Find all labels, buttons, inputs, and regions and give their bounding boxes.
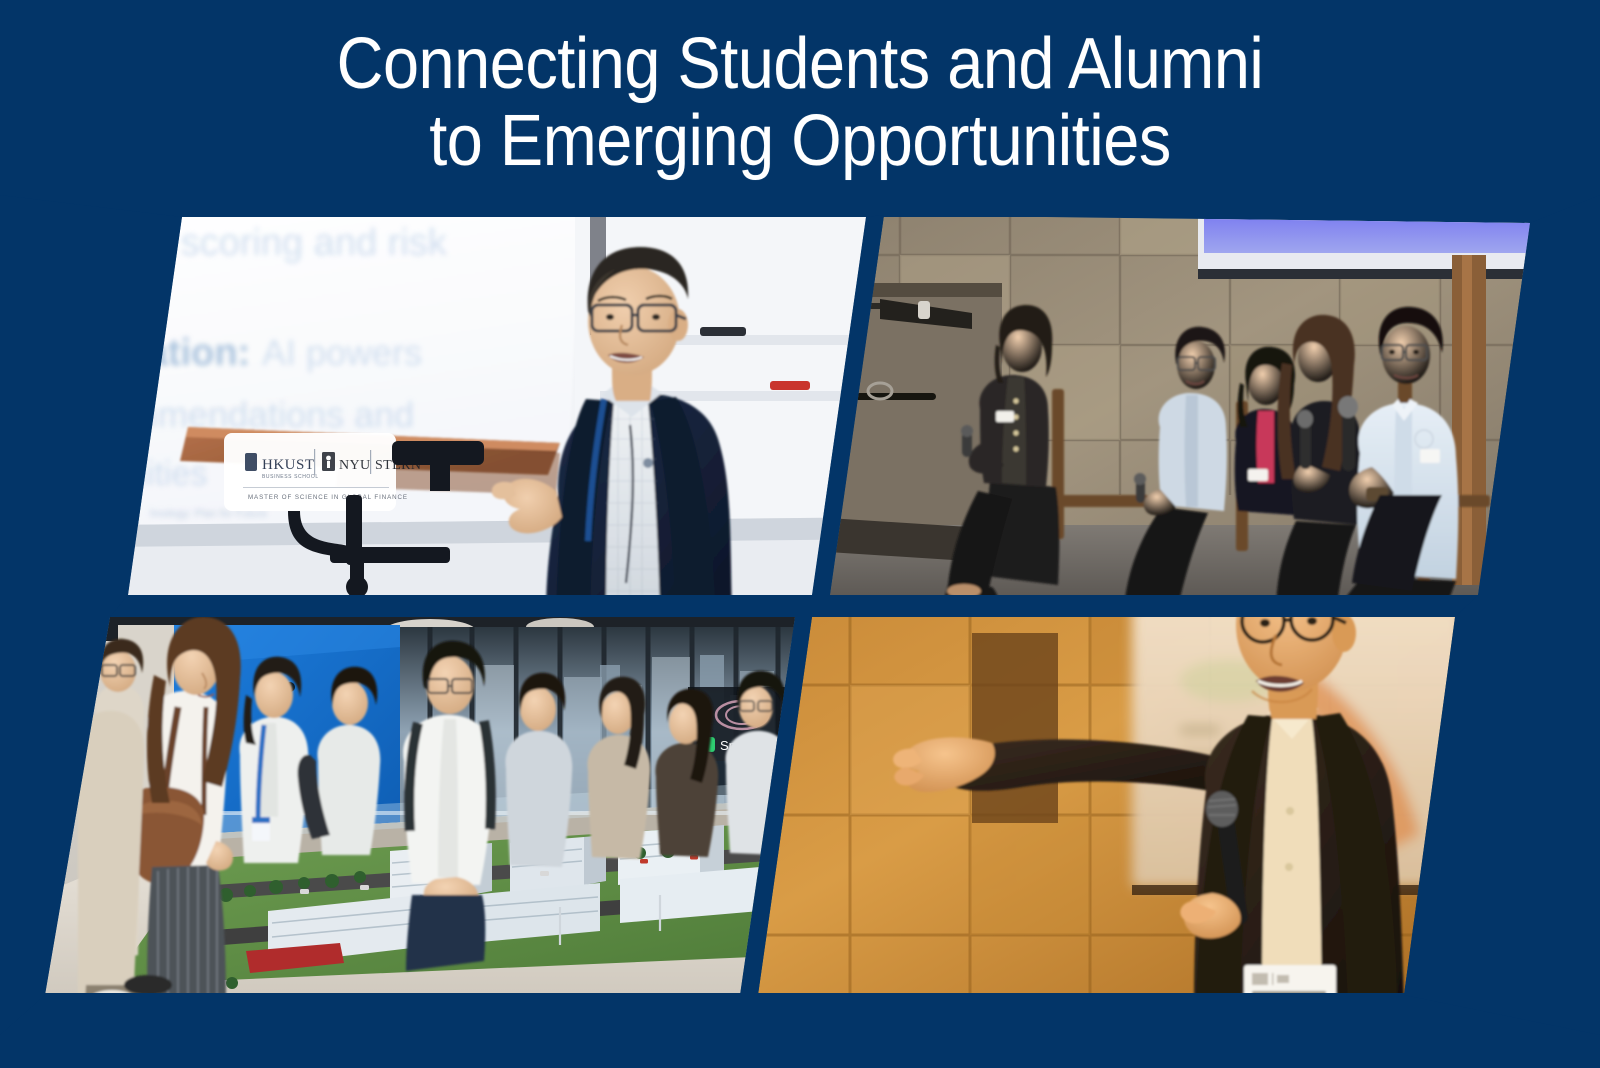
svg-text:NYU: NYU <box>339 458 371 473</box>
page-title: Connecting Students and Alumni to Emergi… <box>0 26 1600 180</box>
svg-text:HKUST: HKUST <box>262 457 315 473</box>
photo-top-right <box>810 195 1570 617</box>
svg-text:mmendations and: mmendations and <box>128 394 414 435</box>
photo-top-left: dit scoring and risk ration: AI powers m… <box>100 195 905 615</box>
photo-collage: dit scoring and risk ration: AI powers m… <box>0 195 1600 1035</box>
svg-text:AI powers: AI powers <box>262 332 422 373</box>
poster-canvas: Connecting Students and Alumni to Emergi… <box>0 0 1600 1068</box>
photo-bottom-left: Spaceship <box>30 605 820 1035</box>
svg-text:MASTER OF SCIENCE IN GLOBAL FI: MASTER OF SCIENCE IN GLOBAL FINANCE <box>248 494 408 501</box>
svg-text:BUSINESS SCHOOL: BUSINESS SCHOOL <box>262 474 319 480</box>
page-title-line-2: to Emerging Opportunities <box>80 103 1520 180</box>
page-title-line-1: Connecting Students and Alumni <box>80 26 1520 103</box>
